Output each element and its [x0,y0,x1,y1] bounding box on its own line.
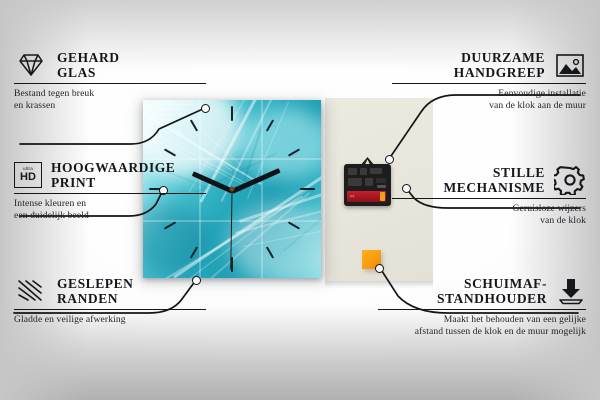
feature-description: Gladde en veilige afwerking [14,314,206,326]
feature-header: DUURZAME HANDGREEP [392,50,586,80]
feature-gehard-glas: GEHARD GLAS Bestand tegen breuk en krass… [14,50,206,112]
feature-title: STILLE MECHANISME [443,165,545,195]
feature-rule [14,83,206,84]
feature-schuimafstandhouder: SCHUIMAF- STANDHOUDER Maakt het behouden… [378,276,586,338]
anchor-dot-duurzame-handgreep [385,155,394,164]
feature-description: Intense kleuren en een duidelijk beeld [14,198,206,221]
feature-description: Eenvoudige installatie van de klok aan d… [392,88,586,111]
feature-title: GESLEPEN RANDEN [57,276,133,306]
feature-header: STILLE MECHANISME [392,165,586,195]
feature-geslepen-randen: GESLEPEN RANDEN Gladde en veilige afwerk… [14,276,206,326]
feature-header: SCHUIMAF- STANDHOUDER [378,276,586,306]
feature-title: SCHUIMAF- STANDHOUDER [437,276,547,306]
feature-stille-mechanisme: STILLE MECHANISME Geruisloze wijzers van… [392,165,586,227]
press-down-icon [556,277,586,305]
diamond-icon [14,51,48,79]
feature-header: GEHARD GLAS [14,50,206,80]
feature-rule [378,309,586,310]
picture-frame-icon [554,52,586,79]
feature-header: GESLEPEN RANDEN [14,276,206,306]
feature-description: Bestand tegen breuk en krassen [14,88,206,111]
feature-title: DUURZAME HANDGREEP [454,50,545,80]
feature-hoogwaardige-print: ultra HD HOOGWAARDIGE PRINT Intense kleu… [14,160,206,222]
infographic-canvas: AA [0,0,600,400]
feature-rule [392,83,586,84]
leader-line-gehard-glas [20,108,205,144]
feature-header: ultra HD HOOGWAARDIGE PRINT [14,160,206,190]
gear-icon [554,165,586,195]
feature-description: Geruisloze wijzers van de klok [392,203,586,226]
feature-rule [14,309,206,310]
feature-description: Maakt het behouden van een gelijke afsta… [378,314,586,337]
feature-title: GEHARD GLAS [57,50,120,80]
feature-duurzame-handgreep: DUURZAME HANDGREEP Eenvoudige installati… [392,50,586,112]
feature-title: HOOGWAARDIGE PRINT [51,160,175,190]
ultra-hd-icon: ultra HD [14,162,42,188]
ultra-hd-icon-large-text: HD [20,172,36,183]
feature-rule [392,198,586,199]
anchor-dot-schuimafstandhouder [375,264,384,273]
hatch-edge-icon [14,277,48,305]
feature-rule [14,193,206,194]
